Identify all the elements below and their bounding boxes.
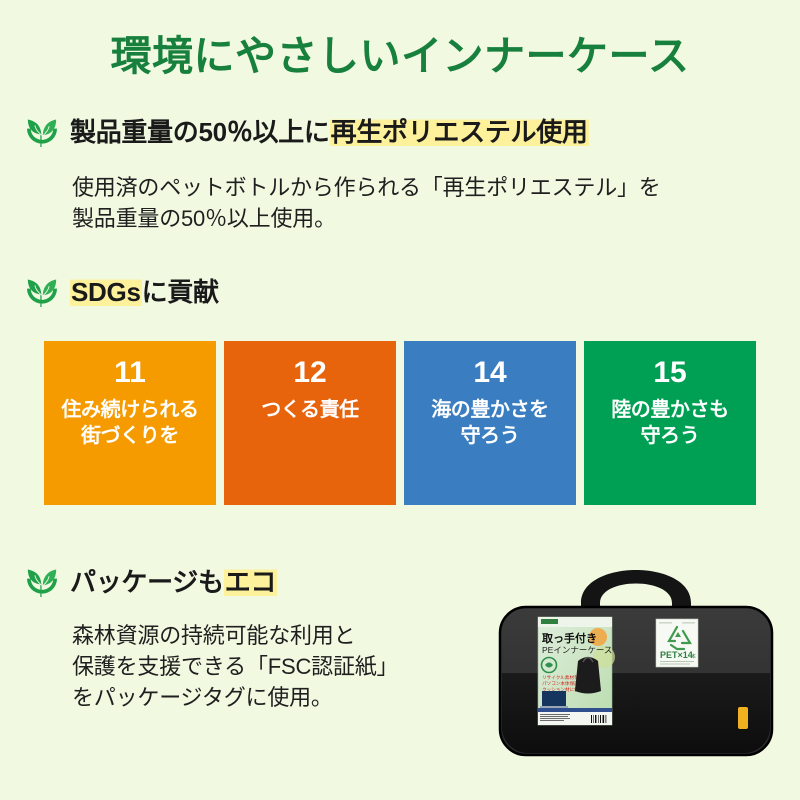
body-line: 森林資源の持続可能な利用と — [72, 620, 398, 651]
section-heading-package: パッケージもエコ — [22, 562, 277, 602]
heading-plain-part: 製品重量の50％以上に — [70, 117, 330, 147]
heading-plain-part: パッケージも — [70, 567, 224, 597]
svg-text:取っ手付き: 取っ手付き — [542, 631, 597, 645]
pet-recycle-tag: PET×14 本 — [656, 619, 698, 667]
sdg-card-14: 14 海の豊かさを 守ろう — [404, 341, 576, 505]
sdg-card-11: 11 住み続けられる 街づくりを — [44, 341, 216, 505]
leaf-circle-icon — [22, 562, 62, 602]
body-line: 保護を支援できる「FSC認証紙」 — [72, 651, 398, 682]
body-line: 製品重量の50％以上使用。 — [72, 203, 661, 234]
package-label: 取っ手付き PEインナーケース リサイクル素材を パソコン本体保護の クッション… — [538, 617, 615, 725]
body-text-recycled: 使用済のペットボトルから作られる「再生ポリエステル」を 製品重量の50％以上使用… — [72, 172, 661, 234]
section-heading-sdgs-text: SDGsに貢献 — [70, 278, 219, 307]
leaf-circle-icon — [22, 112, 62, 152]
section-heading-recycled: 製品重量の50％以上に再生ポリエステル使用 — [22, 112, 589, 152]
zipper-pull — [738, 707, 748, 729]
sdg-label: 海の豊かさを 守ろう — [431, 397, 549, 450]
heading-plain-part: に貢献 — [142, 277, 219, 307]
label-bag-photo — [575, 657, 601, 694]
heading-highlight-part: SDGs — [70, 277, 142, 307]
svg-text:PEインナーケース: PEインナーケース — [542, 645, 612, 655]
body-line: をパッケージタグに使用。 — [72, 682, 398, 713]
leaf-circle-icon — [22, 272, 62, 312]
product-photo: 取っ手付き PEインナーケース リサイクル素材を パソコン本体保護の クッション… — [486, 545, 786, 765]
sdg-number: 14 — [473, 357, 506, 389]
infographic-page: 環境にやさしいインナーケース 製品重量の50％以上に再生ポリエステル使用 使用済… — [0, 0, 800, 800]
svg-text:本: 本 — [691, 653, 696, 660]
heading-highlight-part: エコ — [224, 567, 277, 597]
sdg-label: 陸の豊かさも 守ろう — [611, 397, 729, 450]
page-title: 環境にやさしいインナーケース — [0, 22, 800, 82]
sdg-card-row: 11 住み続けられる 街づくりを 12 つくる責任 14 海の豊かさを 守ろう … — [44, 341, 756, 505]
section-heading-package-text: パッケージもエコ — [70, 568, 277, 597]
svg-text:リサイクル素材を: リサイクル素材を — [542, 674, 579, 681]
body-line: 使用済のペットボトルから作られる「再生ポリエステル」を — [72, 172, 661, 203]
product-case-illustration: 取っ手付き PEインナーケース リサイクル素材を パソコン本体保護の クッション… — [486, 545, 786, 765]
sdg-card-15: 15 陸の豊かさも 守ろう — [584, 341, 756, 505]
svg-text:PET×14: PET×14 — [660, 650, 693, 660]
heading-highlight-part: 再生ポリエステル使用 — [330, 117, 589, 147]
sdg-card-12: 12 つくる責任 — [224, 341, 396, 505]
sdg-number: 11 — [114, 357, 146, 389]
sdg-number: 15 — [653, 357, 686, 389]
sdg-number: 12 — [293, 357, 326, 389]
body-text-package: 森林資源の持続可能な利用と 保護を支援できる「FSC認証紙」 をパッケージタグに… — [72, 620, 398, 714]
sdg-label: 住み続けられる 街づくりを — [61, 397, 198, 450]
section-heading-recycled-text: 製品重量の50％以上に再生ポリエステル使用 — [70, 118, 589, 147]
section-heading-sdgs: SDGsに貢献 — [22, 272, 219, 312]
label-laptop-photo — [540, 691, 568, 709]
sdg-label: つくる責任 — [261, 397, 359, 424]
